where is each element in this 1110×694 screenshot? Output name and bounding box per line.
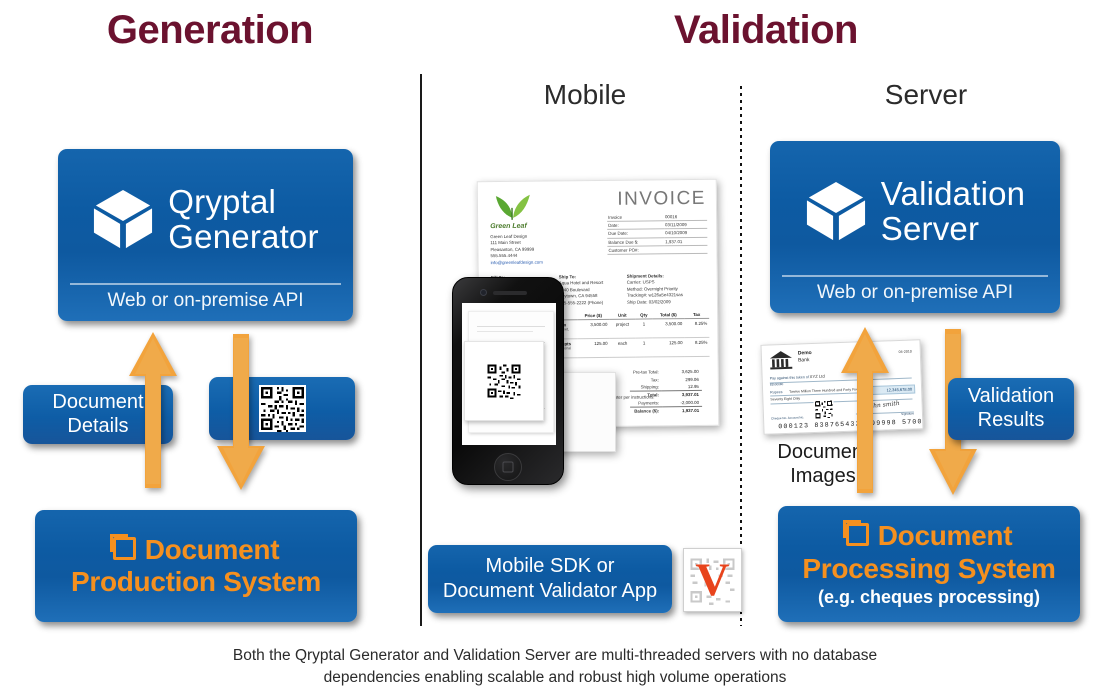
- cube-icon: [805, 180, 867, 242]
- diagram-canvas: Generation Validation Mobile Server Qryp…: [0, 0, 1110, 694]
- cheque-bank-word: Bank: [798, 357, 810, 363]
- validation-server-box[interactable]: Validation Server Web or on-premise API: [770, 141, 1060, 313]
- mobile-sdk-text: Mobile SDK or Document Validator App: [443, 554, 657, 604]
- cheque-amount-words-2: Seventy Eight Only: [770, 396, 800, 402]
- invoice-shipment-details: Shipment Details: Carrier: USPS Method: …: [627, 273, 711, 306]
- cheque-bank-name: Demo: [798, 350, 812, 356]
- invoice-ship-to: Ship To: Aqua Hotel and Resort 1040 Boul…: [559, 274, 621, 307]
- invoice-company-block: Green Leaf Design 111 Main Street Pleasa…: [490, 234, 543, 266]
- server-column-title: Server: [742, 79, 1110, 111]
- phone-qr-overlay: [464, 341, 544, 421]
- mobile-server-divider: [740, 86, 742, 626]
- generation-title: Generation: [0, 8, 420, 53]
- footnote: Both the Qryptal Generator and Validatio…: [0, 645, 1110, 690]
- processing-line1: Document: [878, 520, 1013, 551]
- cheque-qr-icon: [813, 399, 834, 420]
- generator-box-caption: Web or on-premise API: [58, 285, 353, 321]
- qr-code-icon: [486, 363, 522, 399]
- arrow-up-document-images: [839, 325, 891, 497]
- arrow-down-qr-code: [215, 330, 267, 492]
- validation-title: Validation: [422, 8, 1110, 53]
- arrow-up-document-details: [127, 330, 179, 492]
- generation-validation-divider: [420, 74, 422, 626]
- generator-title-line1: Qryptal: [168, 184, 318, 219]
- validator-app-icon[interactable]: V: [683, 548, 742, 612]
- qryptal-generator-box[interactable]: Qryptal Generator Web or on-premise API: [58, 149, 353, 321]
- validation-results-box[interactable]: Validation Results: [948, 378, 1074, 440]
- phone-speaker-icon: [493, 291, 527, 295]
- validation-box-main: Validation Server: [770, 141, 1060, 275]
- validation-results-line2: Results: [968, 409, 1054, 433]
- validator-v-letter: V: [696, 557, 730, 604]
- cheque-date: 04-2010: [899, 350, 912, 355]
- cheque-pay-label: Pay against this token of: [770, 375, 809, 381]
- processing-line1-row: Document: [846, 520, 1013, 552]
- invoice-meta-table: Invoice00016 Date:03/11/2009 Due Date:04…: [607, 213, 707, 255]
- cheque-payee: XYZ Ltd: [810, 374, 825, 380]
- document-icon: [846, 523, 869, 546]
- cheque-ref: 83500080: [770, 383, 783, 387]
- cheque-footer-left: Cheque No. Account No.: [771, 416, 804, 421]
- footnote-line2: dependencies enabling scalable and robus…: [0, 667, 1110, 689]
- production-line1-row: Document: [113, 534, 280, 566]
- validation-title-line1: Validation: [881, 176, 1026, 211]
- document-processing-system-box[interactable]: Document Processing System (e.g. cheques…: [778, 506, 1080, 622]
- mobile-sdk-line2: Document Validator App: [443, 579, 657, 604]
- validation-box-title: Validation Server: [881, 176, 1026, 247]
- footnote-line1: Both the Qryptal Generator and Validatio…: [0, 645, 1110, 667]
- document-icon: [113, 537, 136, 560]
- processing-line2: Processing System: [802, 553, 1055, 585]
- shipment-heading: Shipment Details:: [627, 273, 664, 278]
- phone-camera-icon: [481, 290, 486, 295]
- mobile-column-title: Mobile: [430, 79, 740, 111]
- green-leaf-logo: Green Leaf: [490, 190, 546, 231]
- cheque-signature-label: Signature: [901, 413, 914, 417]
- validation-title-line2: Server: [881, 211, 1026, 246]
- bank-logo-icon: [768, 350, 795, 371]
- generator-box-main: Qryptal Generator: [58, 149, 353, 283]
- table-row: Customer PO#:: [607, 245, 707, 254]
- phone-screen[interactable]: [462, 303, 556, 445]
- validation-results-line1: Validation: [968, 385, 1054, 409]
- invoice-title: INVOICE: [617, 188, 706, 211]
- production-line2: Production System: [71, 566, 321, 598]
- generator-box-title: Qryptal Generator: [168, 184, 318, 255]
- mobile-sdk-line1: Mobile SDK or: [443, 554, 657, 579]
- cube-icon: [92, 188, 154, 250]
- mobile-sdk-box[interactable]: Mobile SDK or Document Validator App: [428, 545, 672, 613]
- document-production-system-box[interactable]: Document Production System: [35, 510, 357, 622]
- validation-box-caption: Web or on-premise API: [770, 277, 1060, 313]
- phone-home-button[interactable]: [494, 453, 522, 481]
- validation-results-text: Validation Results: [968, 385, 1054, 432]
- invoice-logo-name: Green Leaf: [490, 223, 546, 231]
- company-email: info@greenleafdesign.com: [491, 259, 543, 266]
- ship-to-heading: Ship To:: [559, 274, 576, 279]
- mobile-phone[interactable]: [452, 277, 564, 485]
- production-line1: Document: [145, 534, 280, 565]
- generator-title-line2: Generator: [168, 219, 318, 254]
- processing-line3: (e.g. cheques processing): [818, 587, 1040, 608]
